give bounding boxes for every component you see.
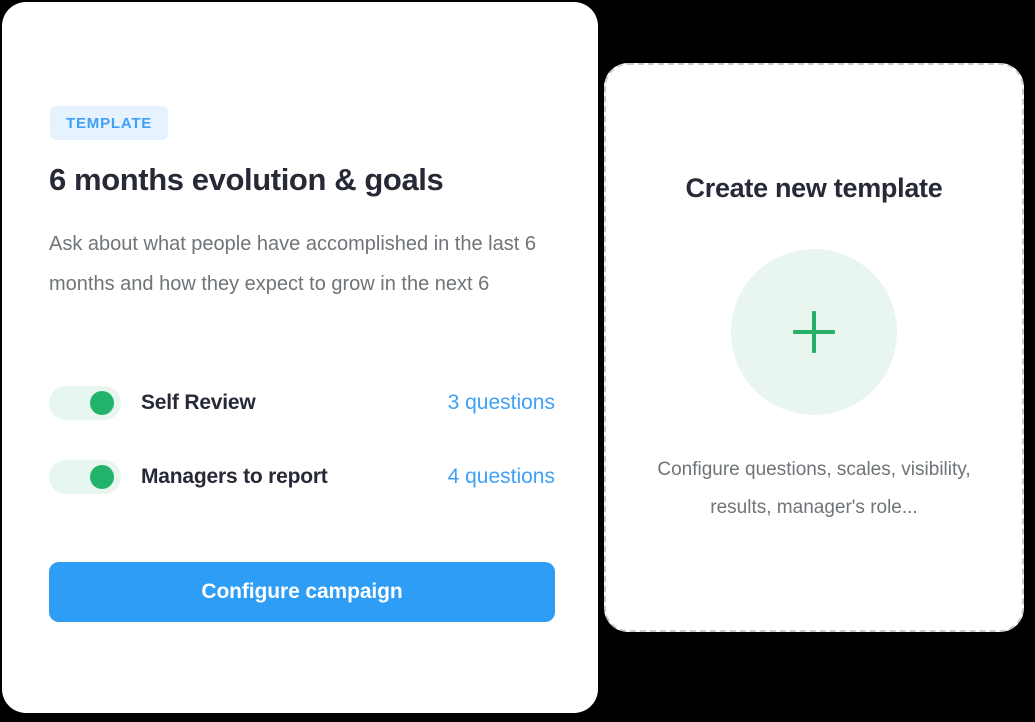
screen-root: Create new template Configure questions,… — [0, 0, 1035, 722]
questions-link-self-review[interactable]: 3 questions — [448, 391, 555, 415]
template-description: Ask about what people have accomplished … — [49, 224, 559, 304]
plus-icon — [793, 311, 835, 353]
toggle-knob-icon — [90, 465, 114, 489]
page-title: 6 months evolution & goals — [49, 161, 443, 198]
list-item: Managers to report 4 questions — [49, 458, 555, 496]
add-template-button[interactable] — [731, 249, 897, 415]
status-badge: TEMPLATE — [50, 106, 168, 140]
configure-campaign-button[interactable]: Configure campaign — [49, 562, 555, 622]
create-template-caption: Configure questions, scales, visibility,… — [634, 451, 994, 527]
create-new-template-card[interactable]: Create new template Configure questions,… — [604, 63, 1024, 632]
toggle-managers-to-report[interactable] — [49, 460, 121, 494]
toggle-label-self-review: Self Review — [141, 391, 256, 415]
questions-link-managers-to-report[interactable]: 4 questions — [448, 465, 555, 489]
toggle-knob-icon — [90, 391, 114, 415]
list-item: Self Review 3 questions — [49, 384, 555, 422]
template-options-list: Self Review 3 questions Managers to repo… — [49, 384, 555, 532]
create-template-title: Create new template — [686, 175, 943, 202]
template-card[interactable]: TEMPLATE 6 months evolution & goals Ask … — [2, 2, 598, 713]
toggle-self-review[interactable] — [49, 386, 121, 420]
toggle-label-managers-to-report: Managers to report — [141, 465, 328, 489]
